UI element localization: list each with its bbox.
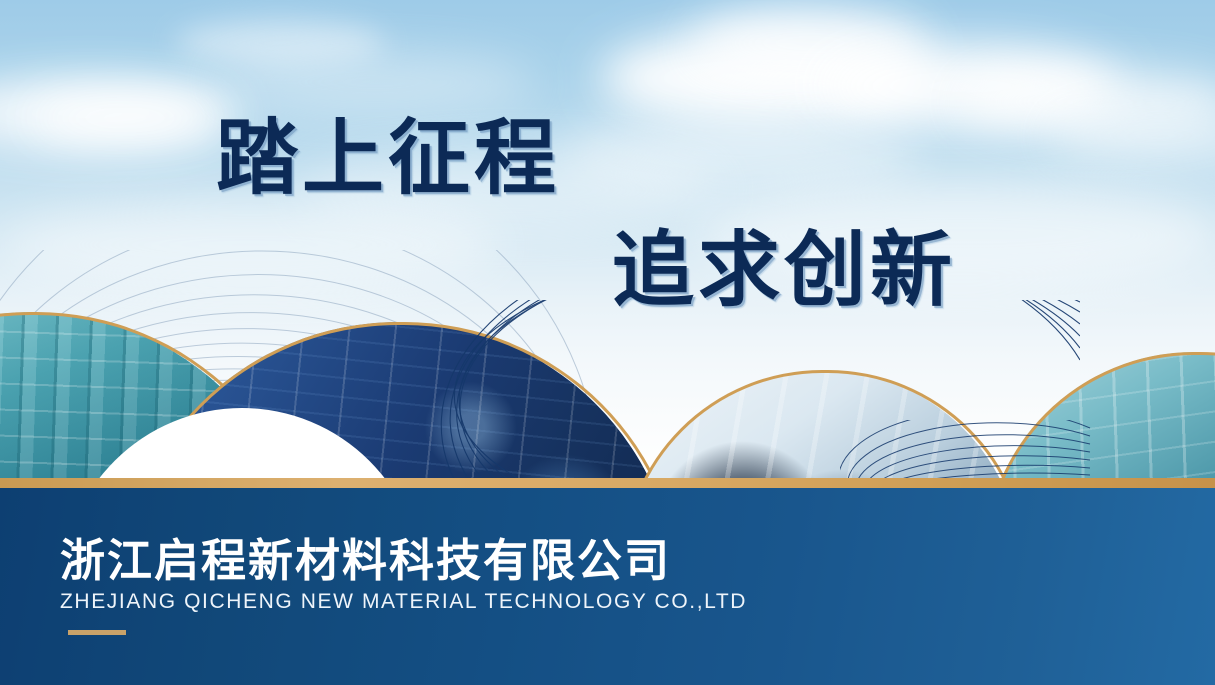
headline-line-1: 踏上征程 xyxy=(216,118,560,200)
cover-slide: 踏上征程 追求创新 浙江启程新材料科技有限公司 ZHEJIANG QICHENG… xyxy=(0,0,1215,685)
headline-block: 踏上征程 追求创新 xyxy=(0,0,1215,340)
company-name-en: ZHEJIANG QICHENG NEW MATERIAL TECHNOLOGY… xyxy=(60,590,747,614)
headline-line-2: 追求创新 xyxy=(612,230,956,312)
company-name-cn: 浙江启程新材料科技有限公司 xyxy=(60,524,671,589)
gold-accent-rule xyxy=(68,630,126,635)
gold-divider-band xyxy=(0,478,1215,488)
